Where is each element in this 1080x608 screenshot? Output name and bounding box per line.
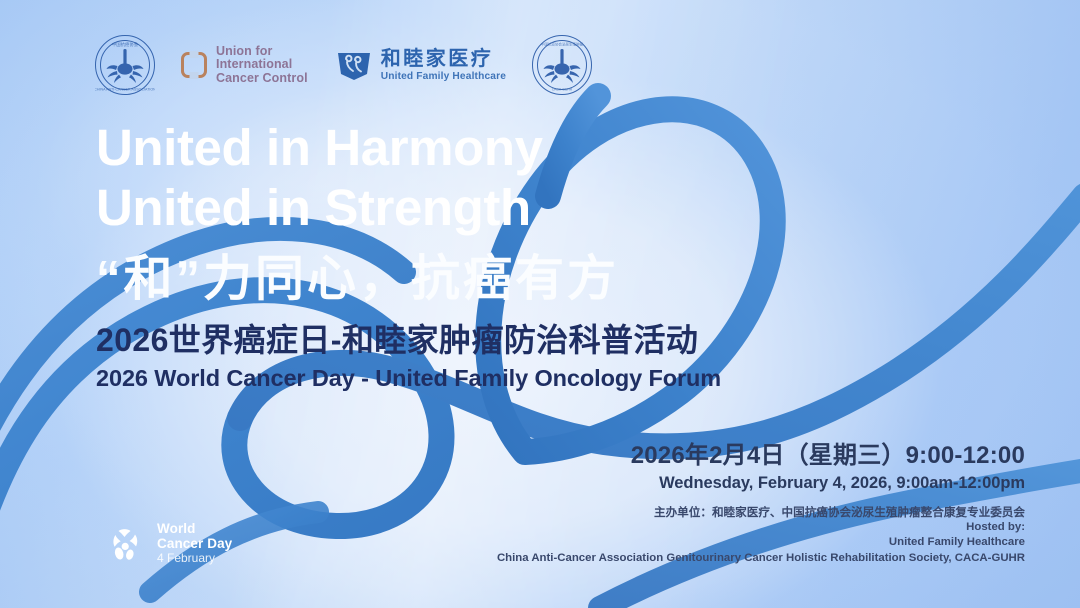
event-info-block: 2026年2月4日（星期三）9:00-12:00 Wednesday, Febr… <box>465 440 1025 566</box>
subtitle-cn: 2026世界癌症日-和睦家肿瘤防治科普活动 <box>96 321 736 359</box>
uicc-line-3: Cancer Control <box>216 72 308 86</box>
event-date-en: Wednesday, February 4, 2026, 9:00am-12:0… <box>465 471 1025 495</box>
wcd-line-1: World <box>157 522 232 537</box>
svg-text:CHINA ANTI-CANCER ASSOCIATION: CHINA ANTI-CANCER ASSOCIATION <box>95 88 155 92</box>
uicc-line-1: Union for <box>216 45 308 59</box>
ufh-name-en: United Family Healthcare <box>381 70 506 83</box>
svg-text:中国抗癌协会泌尿生殖肿瘤: 中国抗癌协会泌尿生殖肿瘤 <box>541 42 583 47</box>
uicc-line-2: International <box>216 58 308 72</box>
headline-en-line-2: United in Strength <box>96 178 736 238</box>
hosted-by-label: Hosted by: <box>465 520 1025 535</box>
caca-guhr-seal: 中国抗癌协会泌尿生殖肿瘤 CACA-GUHR <box>532 35 592 95</box>
wcd-dots-icon <box>104 522 148 566</box>
wcd-wordmark: World Cancer Day 4 February <box>157 522 232 566</box>
world-cancer-day-logo: World Cancer Day 4 February <box>104 522 232 566</box>
headline-en-line-1: United in Harmony <box>96 118 736 178</box>
uicc-logo: Union for International Cancer Control <box>181 45 308 86</box>
china-anti-cancer-association-seal: 中国抗癌协会 CHINA ANTI-CANCER ASSOCIATION <box>95 35 155 95</box>
svg-text:中国抗癌协会: 中国抗癌协会 <box>112 41 139 48</box>
hosts-cn: 主办单位：和睦家医疗、中国抗癌协会泌尿生殖肿瘤整合康复专业委员会 <box>465 505 1025 520</box>
headline-cn: “和”力同心，抗癌有方 <box>96 249 736 309</box>
united-family-healthcare-logo: 和睦家医疗 United Family Healthcare <box>334 47 506 83</box>
wcd-line-2: Cancer Day <box>157 537 232 552</box>
host-en-2: China Anti-Cancer Association Genitourin… <box>465 551 1025 566</box>
crab-seal-icon: 中国抗癌协会 CHINA ANTI-CANCER ASSOCIATION <box>95 35 155 95</box>
headline-block: United in Harmony United in Strength “和”… <box>96 118 736 393</box>
crab-seal-icon: 中国抗癌协会泌尿生殖肿瘤 CACA-GUHR <box>532 35 592 95</box>
subtitle-en: 2026 World Cancer Day - United Family On… <box>96 363 736 393</box>
host-en-1: United Family Healthcare <box>465 535 1025 550</box>
uicc-bracket-icon <box>181 52 207 78</box>
svg-text:CACA-GUHR: CACA-GUHR <box>552 88 573 92</box>
event-date-cn: 2026年2月4日（星期三）9:00-12:00 <box>465 440 1025 471</box>
partner-logo-strip: 中国抗癌协会 CHINA ANTI-CANCER ASSOCIATION Uni… <box>95 32 592 98</box>
poster-canvas: 中国抗癌协会 CHINA ANTI-CANCER ASSOCIATION Uni… <box>0 0 1080 608</box>
wcd-line-3: 4 February <box>157 551 232 566</box>
uicc-wordmark: Union for International Cancer Control <box>216 45 308 86</box>
ufh-name-cn: 和睦家医疗 <box>381 48 506 70</box>
ufh-wordmark: 和睦家医疗 United Family Healthcare <box>381 48 506 83</box>
event-hosts: 主办单位：和睦家医疗、中国抗癌协会泌尿生殖肿瘤整合康复专业委员会 Hosted … <box>465 505 1025 566</box>
ufh-shield-icon <box>334 47 374 83</box>
